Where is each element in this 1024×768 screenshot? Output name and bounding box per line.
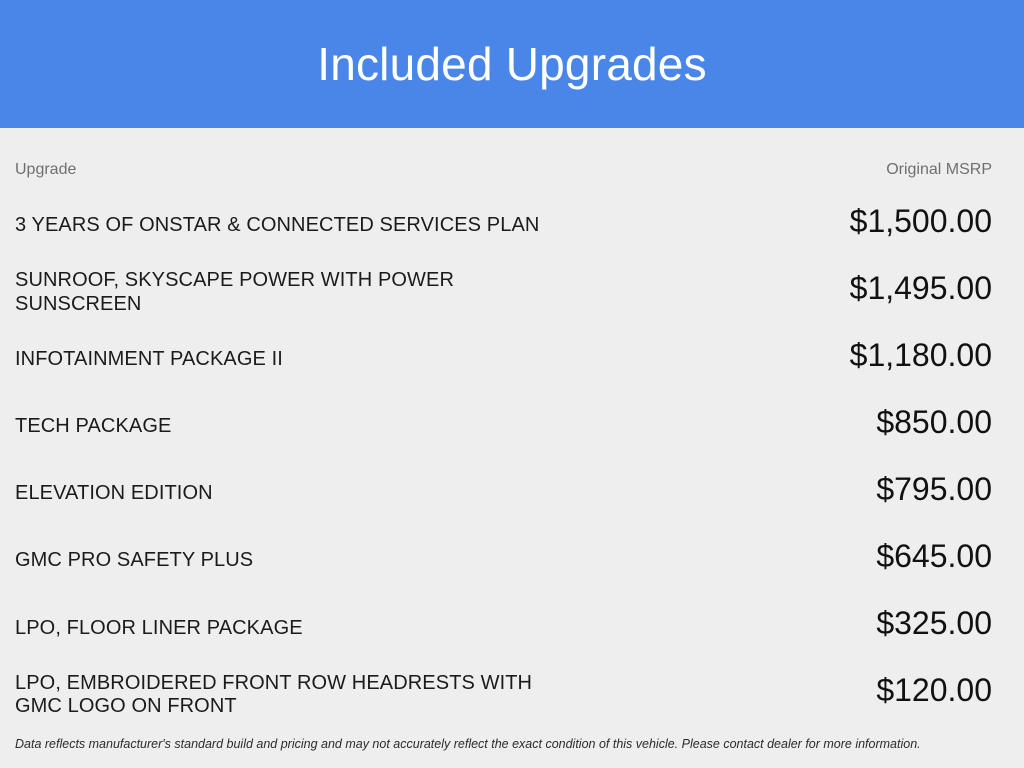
table-row: INFOTAINMENT PACKAGE II $1,180.00 [15, 326, 992, 393]
table-row: SUNROOF, SKYSCAPE POWER WITH POWER SUNSC… [15, 259, 992, 326]
upgrade-price: $1,180.00 [850, 339, 992, 371]
upgrade-price: $795.00 [876, 473, 992, 505]
table-row: LPO, EMBROIDERED FRONT ROW HEADRESTS WIT… [15, 662, 992, 729]
upgrade-name: SUNROOF, SKYSCAPE POWER WITH POWER SUNSC… [15, 269, 735, 316]
upgrade-name: 3 YEARS OF ONSTAR & CONNECTED SERVICES P… [15, 214, 735, 238]
table-row: GMC PRO SAFETY PLUS $645.00 [15, 528, 992, 595]
column-header-original-msrp: Original MSRP [886, 162, 992, 178]
table-row: TECH PACKAGE $850.00 [15, 393, 992, 460]
upgrade-name: GMC PRO SAFETY PLUS [15, 549, 735, 573]
upgrade-name: LPO, EMBROIDERED FRONT ROW HEADRESTS WIT… [15, 672, 735, 719]
column-header-upgrade: Upgrade [15, 162, 76, 178]
disclaimer-text: Data reflects manufacturer's standard bu… [15, 737, 992, 752]
page-header-banner: Included Upgrades [0, 0, 1024, 128]
upgrade-price: $1,500.00 [850, 205, 992, 237]
upgrade-price: $645.00 [876, 540, 992, 572]
upgrade-name: LPO, FLOOR LINER PACKAGE [15, 617, 735, 641]
footer: Data reflects manufacturer's standard bu… [15, 729, 992, 768]
table-row: ELEVATION EDITION $795.00 [15, 461, 992, 528]
table-row: LPO, FLOOR LINER PACKAGE $325.00 [15, 595, 992, 662]
upgrades-table: Upgrade Original MSRP 3 YEARS OF ONSTAR … [0, 128, 1024, 768]
upgrade-price: $120.00 [876, 674, 992, 706]
included-upgrades-page: Included Upgrades Upgrade Original MSRP … [0, 0, 1024, 768]
upgrade-rows: 3 YEARS OF ONSTAR & CONNECTED SERVICES P… [15, 192, 992, 729]
upgrade-name: INFOTAINMENT PACKAGE II [15, 348, 735, 372]
table-header-row: Upgrade Original MSRP [15, 128, 992, 192]
upgrade-name: TECH PACKAGE [15, 415, 735, 439]
upgrade-price: $325.00 [876, 607, 992, 639]
upgrade-price: $1,495.00 [850, 272, 992, 304]
upgrade-price: $850.00 [876, 406, 992, 438]
table-row: 3 YEARS OF ONSTAR & CONNECTED SERVICES P… [15, 192, 992, 259]
upgrade-name: ELEVATION EDITION [15, 482, 735, 506]
page-title: Included Upgrades [317, 41, 707, 87]
